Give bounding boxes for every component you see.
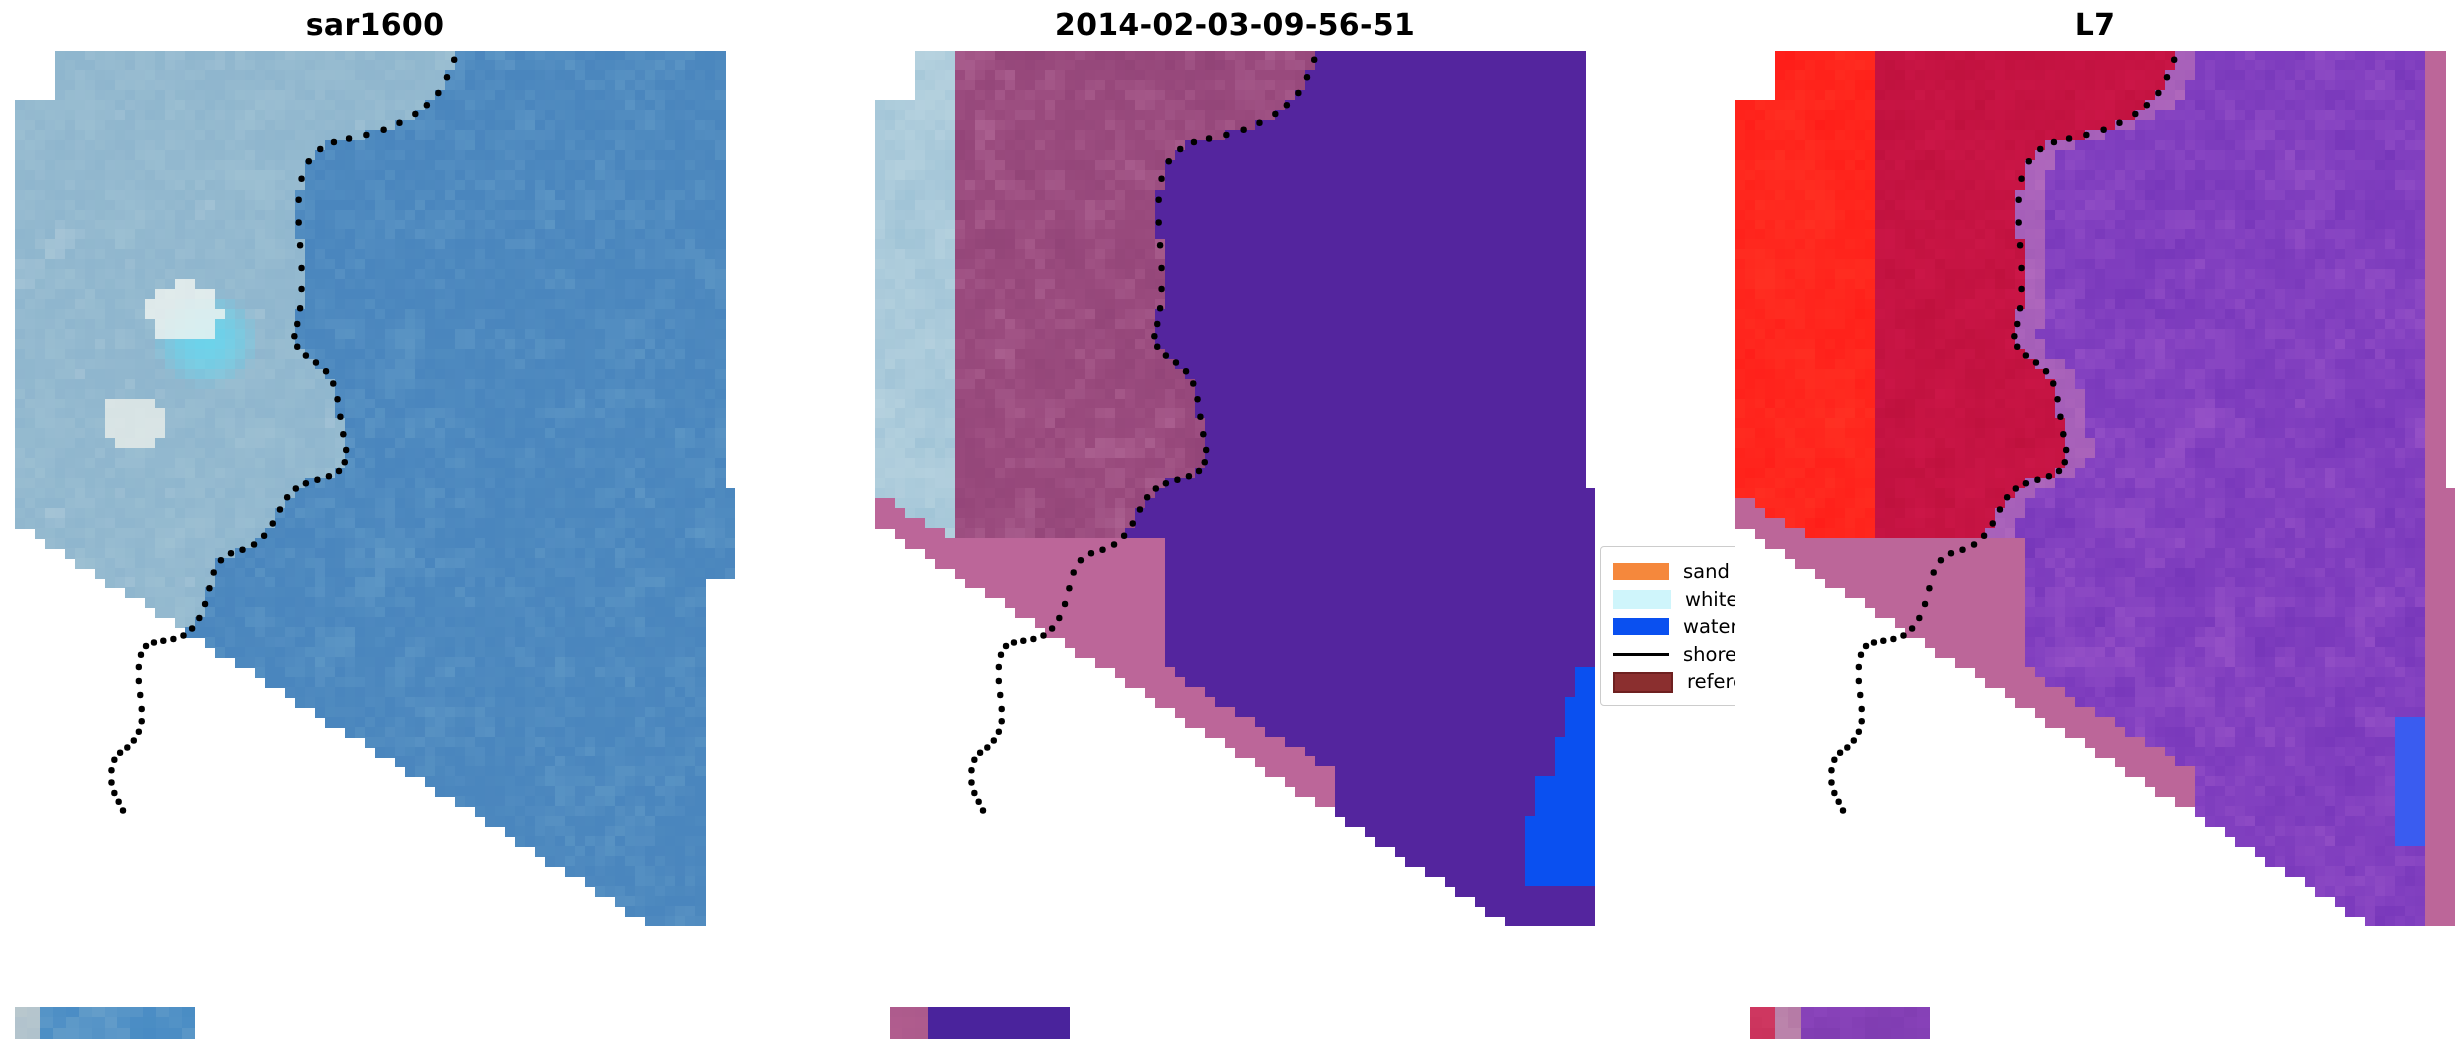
legend-item-water: water bbox=[1613, 613, 1735, 641]
panel-title-sar1600: sar1600 bbox=[15, 0, 735, 52]
legend-item-shoreline: shoreli bbox=[1613, 641, 1735, 669]
panel-strip-sar1600 bbox=[15, 1007, 195, 1039]
panel-image-sar1600 bbox=[15, 51, 735, 926]
legend-label-water: water bbox=[1683, 617, 1735, 637]
panel-sar1600: sar1600 bbox=[15, 0, 735, 1059]
legend-swatch-water bbox=[1613, 618, 1669, 635]
legend-label-reference: referen bbox=[1687, 672, 1735, 692]
panel-classified: 2014-02-03-09-56-51 bbox=[875, 0, 1595, 1059]
panel-title-classified: 2014-02-03-09-56-51 bbox=[875, 0, 1595, 52]
legend-label-shoreline: shoreli bbox=[1683, 645, 1735, 665]
legend-swatch-reference bbox=[1613, 672, 1673, 693]
legend-item-whitewater: whitew bbox=[1613, 586, 1735, 614]
legend-label-whitewater: whitew bbox=[1685, 590, 1735, 610]
legend-item-sand: sand bbox=[1613, 558, 1735, 586]
panel-image-l7 bbox=[1735, 51, 2455, 926]
legend-swatch-whitewater bbox=[1613, 590, 1671, 609]
legend-swatch-sand bbox=[1613, 563, 1669, 580]
legend-item-reference: referen bbox=[1613, 668, 1735, 696]
panel-title-l7: L7 bbox=[1735, 0, 2455, 52]
panel-image-classified bbox=[875, 51, 1595, 926]
legend-clip-region: sand whitew water shoreli referen bbox=[1600, 546, 1735, 706]
legend-label-sand: sand bbox=[1683, 562, 1730, 582]
legend-swatch-shoreline bbox=[1613, 653, 1669, 656]
panel-l7: L7 bbox=[1735, 0, 2455, 1059]
map-legend: sand whitew water shoreli referen bbox=[1600, 546, 1735, 706]
panel-strip-l7 bbox=[1750, 1007, 1930, 1039]
panel-strip-classified bbox=[890, 1007, 1070, 1039]
